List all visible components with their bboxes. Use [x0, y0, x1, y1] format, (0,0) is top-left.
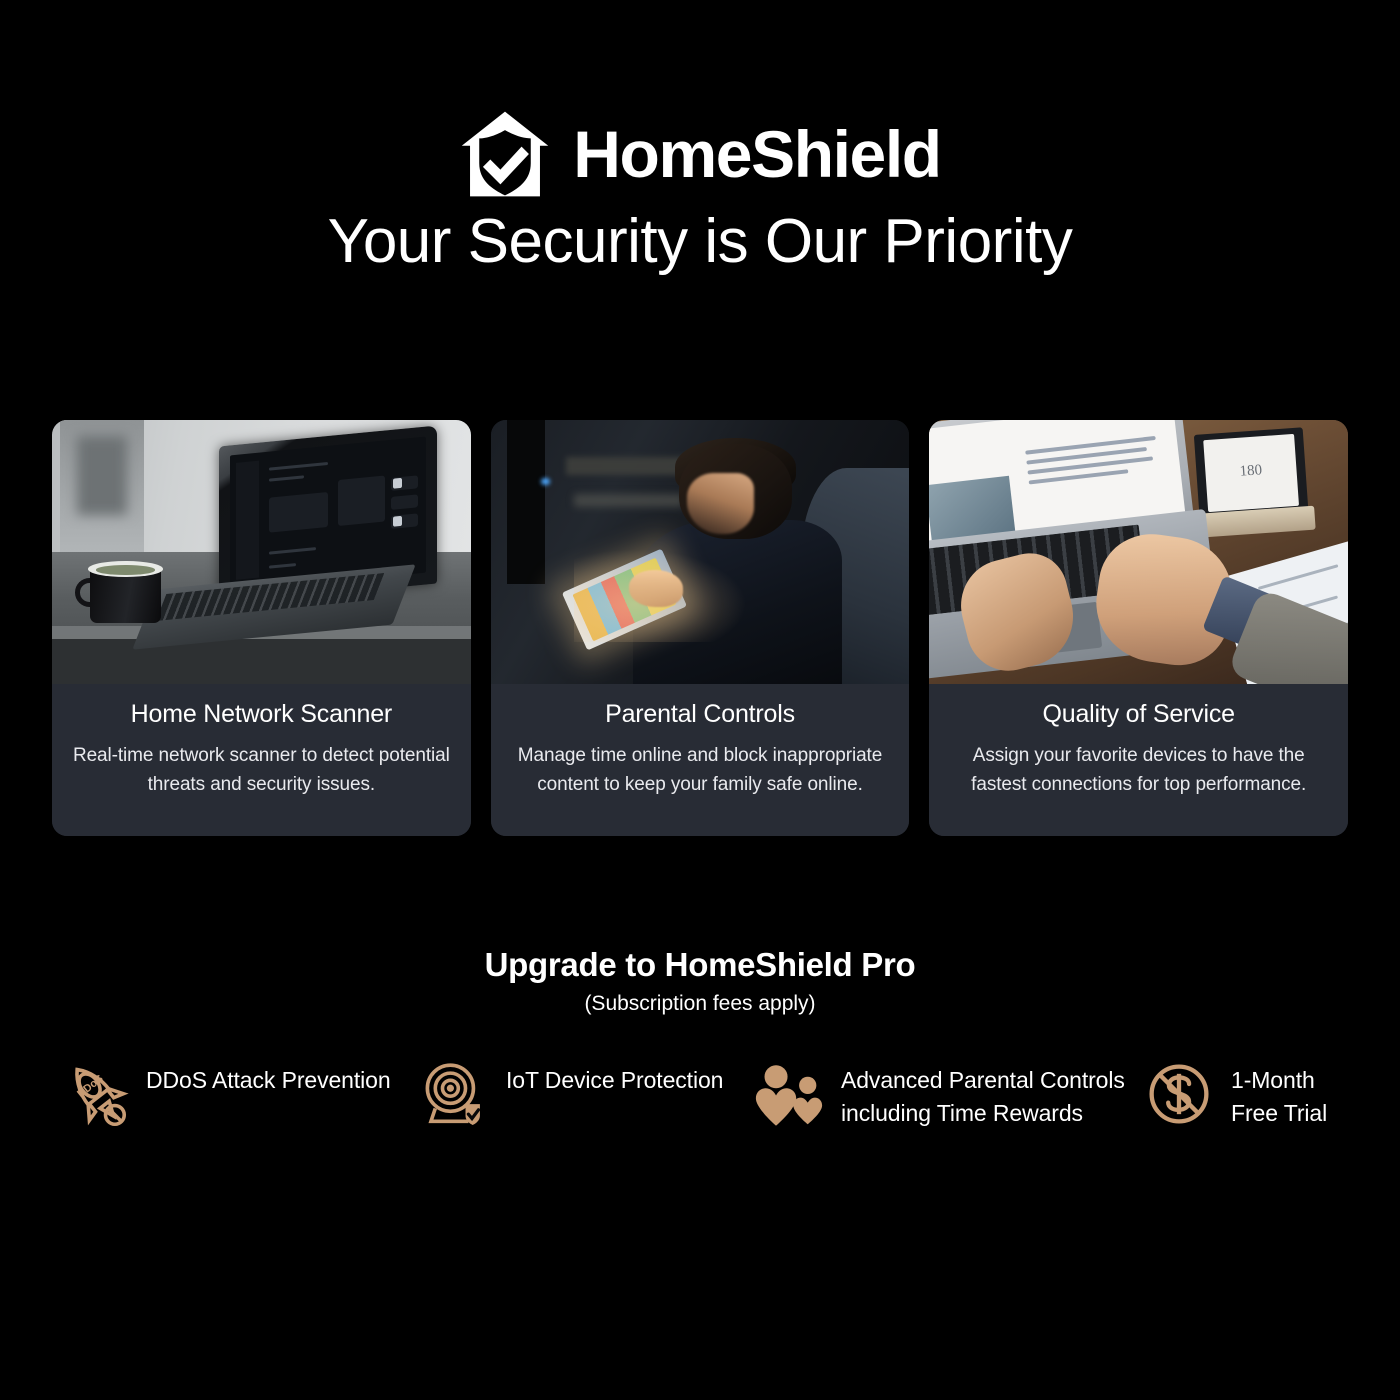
feature-card-list: Home Network Scanner Real-time network s…	[52, 420, 1348, 836]
home-shield-check-icon	[459, 108, 551, 200]
card-caption: Parental Controls Manage time online and…	[491, 684, 910, 836]
webcam-shield-check-icon	[418, 1058, 490, 1130]
brand-header: HomeShield	[0, 108, 1400, 200]
card-title: Quality of Service	[945, 700, 1332, 729]
feature-card-home-network-scanner[interactable]: Home Network Scanner Real-time network s…	[52, 420, 471, 836]
card-description: Manage time online and block inappropria…	[507, 741, 894, 800]
pro-feature-one-month-free-trial: 1-Month Free Trial	[1143, 1058, 1358, 1131]
homeshield-promo-page: HomeShield Your Security is Our Priority	[0, 0, 1400, 1400]
hands-typing-on-laptop-photo: 180	[929, 420, 1348, 684]
pro-feature-iot-device-protection: IoT Device Protection	[418, 1058, 753, 1130]
pro-feature-ddos-attack-prevention: DDoS DDoS Attack Prevention	[58, 1058, 418, 1130]
card-caption: Quality of Service Assign your favorite …	[929, 684, 1348, 836]
laptop-on-desk-photo	[52, 420, 471, 684]
card-caption: Home Network Scanner Real-time network s…	[52, 684, 471, 836]
parent-and-child-icon	[753, 1058, 825, 1130]
pro-upgrade-subtitle: (Subscription fees apply)	[0, 992, 1400, 1016]
page-headline: Your Security is Our Priority	[0, 206, 1400, 277]
pro-feature-label: DDoS Attack Prevention	[146, 1058, 391, 1097]
feature-card-parental-controls[interactable]: Parental Controls Manage time online and…	[491, 420, 910, 836]
card-title: Home Network Scanner	[68, 700, 455, 729]
rocket-ddos-blocked-icon: DDoS	[58, 1058, 130, 1130]
pro-feature-label: 1-Month Free Trial	[1231, 1058, 1358, 1131]
brand-name: HomeShield	[573, 121, 940, 187]
card-description: Real-time network scanner to detect pote…	[68, 741, 455, 800]
card-description: Assign your favorite devices to have the…	[945, 741, 1332, 800]
pro-feature-list: DDoS DDoS Attack Prevention IoT Device P…	[58, 1058, 1358, 1131]
pro-feature-label: Advanced Parental Controls including Tim…	[841, 1058, 1143, 1131]
card-title: Parental Controls	[507, 700, 894, 729]
pro-feature-label: IoT Device Protection	[506, 1058, 723, 1097]
pro-upgrade-title: Upgrade to HomeShield Pro	[0, 946, 1400, 984]
feature-card-quality-of-service[interactable]: 180	[929, 420, 1348, 836]
no-cost-dollar-icon	[1143, 1058, 1215, 1130]
pro-feature-advanced-parental-controls: Advanced Parental Controls including Tim…	[753, 1058, 1143, 1131]
child-using-tablet-photo	[491, 420, 910, 684]
